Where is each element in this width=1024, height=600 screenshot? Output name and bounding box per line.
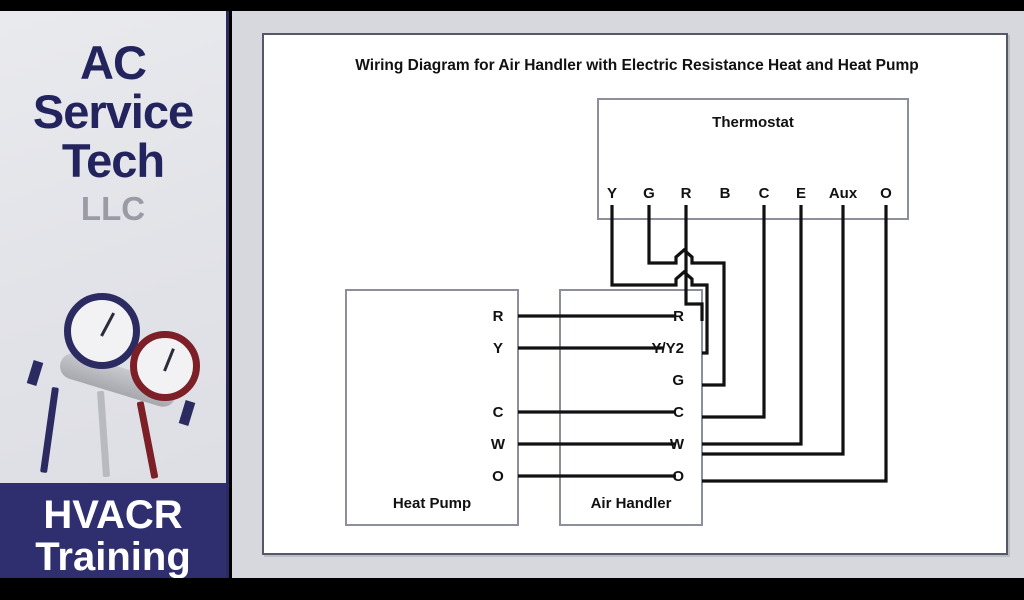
wiring-schematic: Thermostat Y G R B C E Aux O Heat Pump R…	[264, 35, 1010, 557]
air-handler-terminal-G: G	[672, 372, 684, 389]
thermostat-terminal-B: B	[720, 185, 731, 202]
thermostat-terminal-R: R	[681, 185, 692, 202]
heat-pump-terminal-O: O	[492, 468, 504, 485]
hose-gray-icon	[97, 391, 110, 477]
heat-pump-terminal-C: C	[493, 404, 504, 421]
wire-tstat-C-to-ah-C	[702, 227, 764, 417]
heat-pump-terminal-Y: Y	[493, 340, 503, 357]
thermostat-terminal-G: G	[643, 185, 655, 202]
thermostat-terminal-C: C	[759, 185, 770, 202]
pressure-gauge-red-icon	[130, 331, 200, 401]
screenshot-stage: AC Service Tech LLC HVACR Training	[0, 0, 1024, 600]
thermostat-terminal-O: O	[880, 185, 892, 202]
hvacr-training-banner: HVACR Training	[0, 483, 226, 578]
heat-pump-label: Heat Pump	[393, 495, 471, 512]
gauge-manifold-icon	[12, 283, 222, 481]
heat-pump-terminal-R: R	[493, 308, 504, 325]
banner-line-2: Training	[35, 536, 191, 578]
banner-line-1: HVACR	[43, 494, 182, 536]
letterbox-top	[0, 0, 1024, 11]
thermostat-terminal-Y: Y	[607, 185, 617, 202]
wire-tstat-E-to-ah-W	[702, 227, 801, 444]
diagram-outer-area: Wiring Diagram for Air Handler with Elec…	[232, 11, 1024, 578]
company-logo: AC Service Tech LLC	[0, 39, 226, 228]
thermostat-label: Thermostat	[712, 114, 794, 131]
logo-line-2: Service	[0, 88, 226, 137]
branding-sidebar: AC Service Tech LLC HVACR Training	[0, 11, 229, 578]
hose-red-icon	[137, 401, 159, 479]
logo-line-3: Tech	[0, 137, 226, 186]
heat-pump-terminal-W: W	[491, 436, 506, 453]
pressure-gauge-blue-icon	[64, 293, 140, 369]
air-handler-label: Air Handler	[591, 495, 672, 512]
letterbox-bottom	[0, 578, 1024, 600]
manifold-valve-right-icon	[179, 400, 196, 426]
thermostat-terminal-E: E	[796, 185, 806, 202]
manifold-valve-left-icon	[27, 360, 44, 386]
thermostat-terminal-Aux: Aux	[829, 185, 858, 202]
diagram-panel: Wiring Diagram for Air Handler with Elec…	[262, 33, 1008, 555]
logo-llc-suffix: LLC	[0, 190, 226, 228]
hose-blue-icon	[40, 387, 59, 473]
logo-line-1: AC	[0, 39, 226, 88]
